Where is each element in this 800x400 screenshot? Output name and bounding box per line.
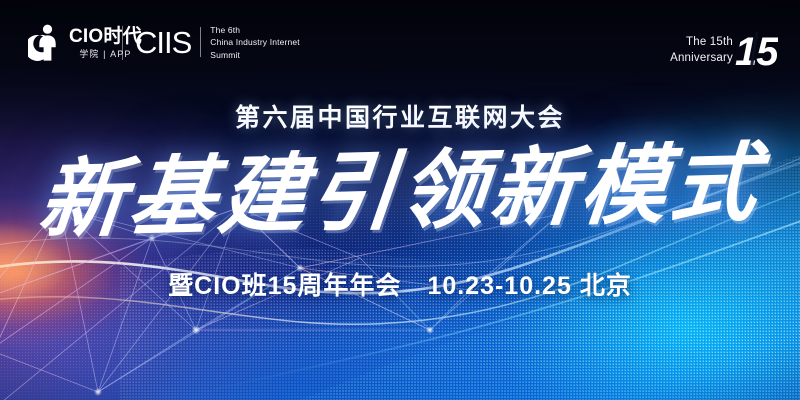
- conference-poster: CIO时代 学院 | APP CIIS The 6th China Indust…: [0, 0, 800, 400]
- anniversary-line2: Anniversary: [670, 51, 733, 67]
- header-logo-divider: [122, 26, 123, 60]
- anniversary-badge: The 15th Anniversary 15: [670, 26, 778, 76]
- ciis-logo-rule: [200, 27, 201, 57]
- anniversary-text: The 15th Anniversary: [670, 35, 733, 66]
- hero-title: 新基建引领新模式: [35, 140, 765, 244]
- ciis-logo[interactable]: CIIS The 6th China Industry Internet Sum…: [135, 24, 300, 61]
- cio-person-mark-icon: [28, 22, 64, 64]
- cio-logo-primary-text: CIO时代: [69, 27, 142, 46]
- cio-logo-secondary-text: 学院 | APP: [69, 50, 142, 59]
- ciis-subtitle-line2: China Industry Internet: [210, 36, 299, 48]
- subtitle-event-name: 暨CIO班15周年年会: [168, 272, 401, 300]
- ciis-logo-mark: CIIS: [135, 27, 191, 58]
- event-subtitle: 暨CIO班15周年年会10.23-10.25 北京: [0, 266, 800, 302]
- subtitle-city: 北京: [580, 272, 632, 300]
- subtitle-date: 10.23-10.25: [427, 272, 571, 300]
- event-kicker-title: 第六届中国行业互联网大会: [0, 98, 800, 134]
- poster-header: CIO时代 学院 | APP CIIS The 6th China Indust…: [0, 0, 800, 86]
- ciis-logo-subtitle: The 6th China Industry Internet Summit: [210, 24, 299, 61]
- hero-title-container: 新基建引领新模式: [0, 132, 800, 252]
- cio-era-logo[interactable]: CIO时代 学院 | APP: [28, 22, 142, 64]
- ciis-subtitle-line3: Summit: [210, 49, 299, 61]
- ciis-subtitle-line1: The 6th: [210, 24, 299, 36]
- anniversary-number-15-icon: 15: [734, 26, 778, 76]
- anniversary-line1: The 15th: [670, 35, 733, 51]
